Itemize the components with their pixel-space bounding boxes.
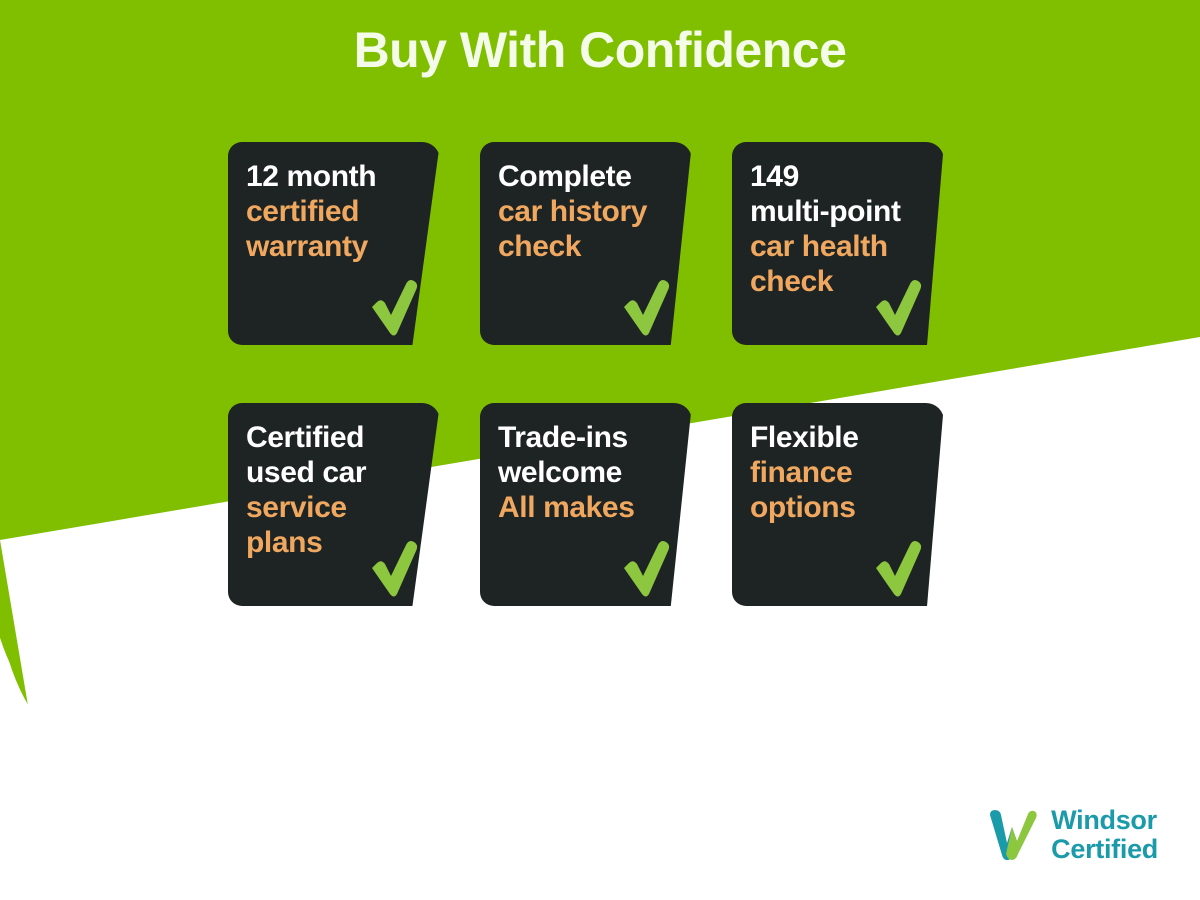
feature-card-history-check[interactable]: Complete car history check <box>480 142 692 345</box>
feature-card-warranty[interactable]: 12 month certified warranty <box>228 142 440 345</box>
feature-card-service-plans[interactable]: Certified used car service plans <box>228 403 440 606</box>
card-slot: Trade-ins welcome All makes <box>480 403 732 606</box>
feature-card-trade-ins[interactable]: Trade-ins welcome All makes <box>480 403 692 606</box>
card-line: car history <box>498 195 676 230</box>
card-line: options <box>750 491 928 526</box>
card-line: 12 month <box>246 160 424 195</box>
brand-logo-text: Windsor Certified <box>1051 806 1158 864</box>
check-icon <box>870 538 924 600</box>
card-slot: Flexible finance options <box>732 403 984 606</box>
card-line: check <box>498 230 676 265</box>
card-line: used car <box>246 456 424 491</box>
feature-card-text: Trade-ins welcome All makes <box>498 421 676 526</box>
card-line: Flexible <box>750 421 928 456</box>
background-white-bottom-left <box>0 742 350 900</box>
poster-canvas: Buy With Confidence 12 month certified w… <box>0 0 1200 900</box>
check-icon <box>618 277 672 339</box>
feature-card-text: 12 month certified warranty <box>246 160 424 265</box>
card-line: multi-point <box>750 195 928 230</box>
card-line: car health <box>750 230 928 265</box>
feature-card-text: Flexible finance options <box>750 421 928 526</box>
windsor-w-icon <box>985 809 1039 861</box>
feature-card-health-check[interactable]: 149 multi-point car health check <box>732 142 944 345</box>
card-line: Complete <box>498 160 676 195</box>
card-line: finance <box>750 456 928 491</box>
card-line: service <box>246 491 424 526</box>
card-slot: 12 month certified warranty <box>228 142 480 345</box>
card-line: Certified <box>246 421 424 456</box>
card-slot: Complete car history check <box>480 142 732 345</box>
check-icon <box>366 277 420 339</box>
card-line: Trade-ins <box>498 421 676 456</box>
feature-card-finance[interactable]: Flexible finance options <box>732 403 944 606</box>
feature-card-row: Certified used car service plans Trade-i… <box>228 403 984 606</box>
card-line: All makes <box>498 491 676 526</box>
brand-logo[interactable]: Windsor Certified <box>985 806 1158 864</box>
check-icon <box>870 277 924 339</box>
brand-line-2: Certified <box>1051 835 1158 864</box>
feature-card-row: 12 month certified warranty Complete car… <box>228 142 984 345</box>
card-slot: Certified used car service plans <box>228 403 480 606</box>
brand-line-1: Windsor <box>1051 806 1158 835</box>
card-slot: 149 multi-point car health check <box>732 142 984 345</box>
check-icon <box>618 538 672 600</box>
page-title: Buy With Confidence <box>0 22 1200 78</box>
card-line: 149 <box>750 160 928 195</box>
card-line: certified <box>246 195 424 230</box>
feature-card-text: Complete car history check <box>498 160 676 265</box>
card-line: warranty <box>246 230 424 265</box>
feature-card-grid: 12 month certified warranty Complete car… <box>228 142 984 606</box>
card-line: welcome <box>498 456 676 491</box>
check-icon <box>366 538 420 600</box>
